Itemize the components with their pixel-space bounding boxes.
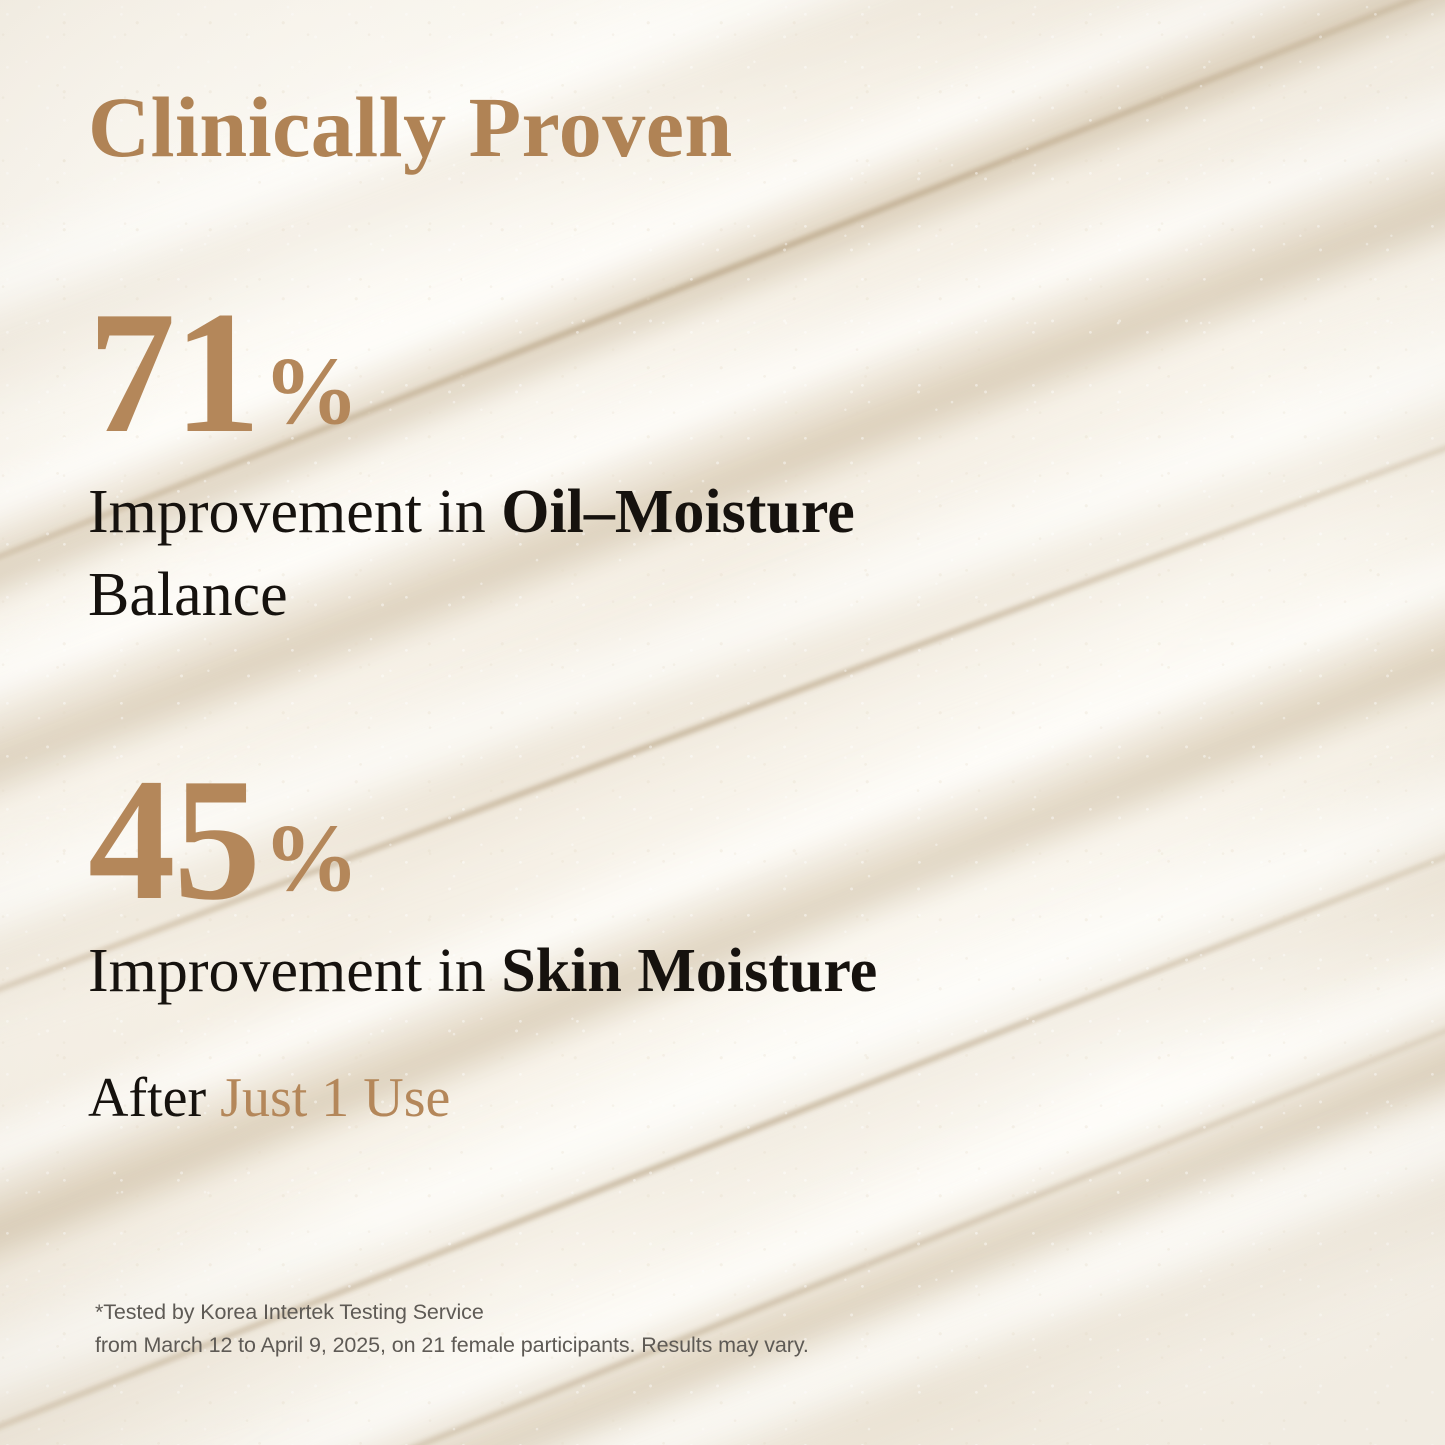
stat-block-oil-moisture: 71% Improvement in Oil–MoistureBalance: [88, 295, 855, 637]
stat-description-emphasis: Oil–Moisture: [501, 478, 855, 546]
promo-graphic: Clinically Proven 71% Improvement in Oil…: [0, 0, 1445, 1445]
stat-value-71: 71%: [88, 295, 855, 449]
stat-description-lead: Improvement in: [88, 937, 501, 1005]
stat-description-lead: Improvement in: [88, 478, 501, 546]
after-use-line: After Just 1 Use: [88, 1068, 450, 1130]
footnote-disclaimer: *Tested by Korea Intertek Testing Servic…: [95, 1296, 809, 1361]
stat-number: 71: [88, 275, 259, 469]
percent-symbol: %: [263, 337, 359, 444]
percent-symbol: %: [263, 804, 359, 911]
stat-description-trail: Balance: [88, 561, 288, 629]
after-use-accent: Just 1 Use: [220, 1067, 450, 1129]
footnote-line-2: from March 12 to April 9, 2025, on 21 fe…: [95, 1329, 809, 1362]
page-title: Clinically Proven: [88, 84, 733, 170]
stat-number: 45: [88, 742, 259, 936]
after-use-lead: After: [88, 1067, 220, 1129]
content-layer: Clinically Proven 71% Improvement in Oil…: [0, 0, 1445, 1445]
stat-block-skin-moisture: 45% Improvement in Skin Moisture: [88, 762, 877, 1013]
stat-value-45: 45%: [88, 762, 877, 916]
stat-description-skin-moisture: Improvement in Skin Moisture: [88, 930, 877, 1013]
footnote-line-1: *Tested by Korea Intertek Testing Servic…: [95, 1296, 809, 1329]
stat-description-emphasis: Skin Moisture: [501, 937, 877, 1005]
stat-description-oil-moisture: Improvement in Oil–MoistureBalance: [88, 471, 855, 637]
